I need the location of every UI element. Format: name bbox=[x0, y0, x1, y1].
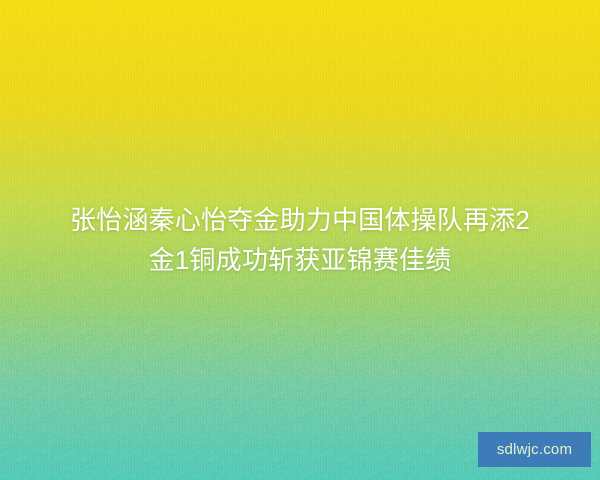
watermark-label: sdlwjc.com bbox=[497, 442, 572, 457]
headline-title: 张怡涵秦心怡夺金助力中国体操队再添2 金1铜成功斩获亚锦赛佳绩 bbox=[0, 200, 600, 280]
watermark-badge[interactable]: sdlwjc.com bbox=[478, 432, 591, 467]
cover-image-canvas: 张怡涵秦心怡夺金助力中国体操队再添2 金1铜成功斩获亚锦赛佳绩 sdlwjc.c… bbox=[0, 0, 600, 480]
